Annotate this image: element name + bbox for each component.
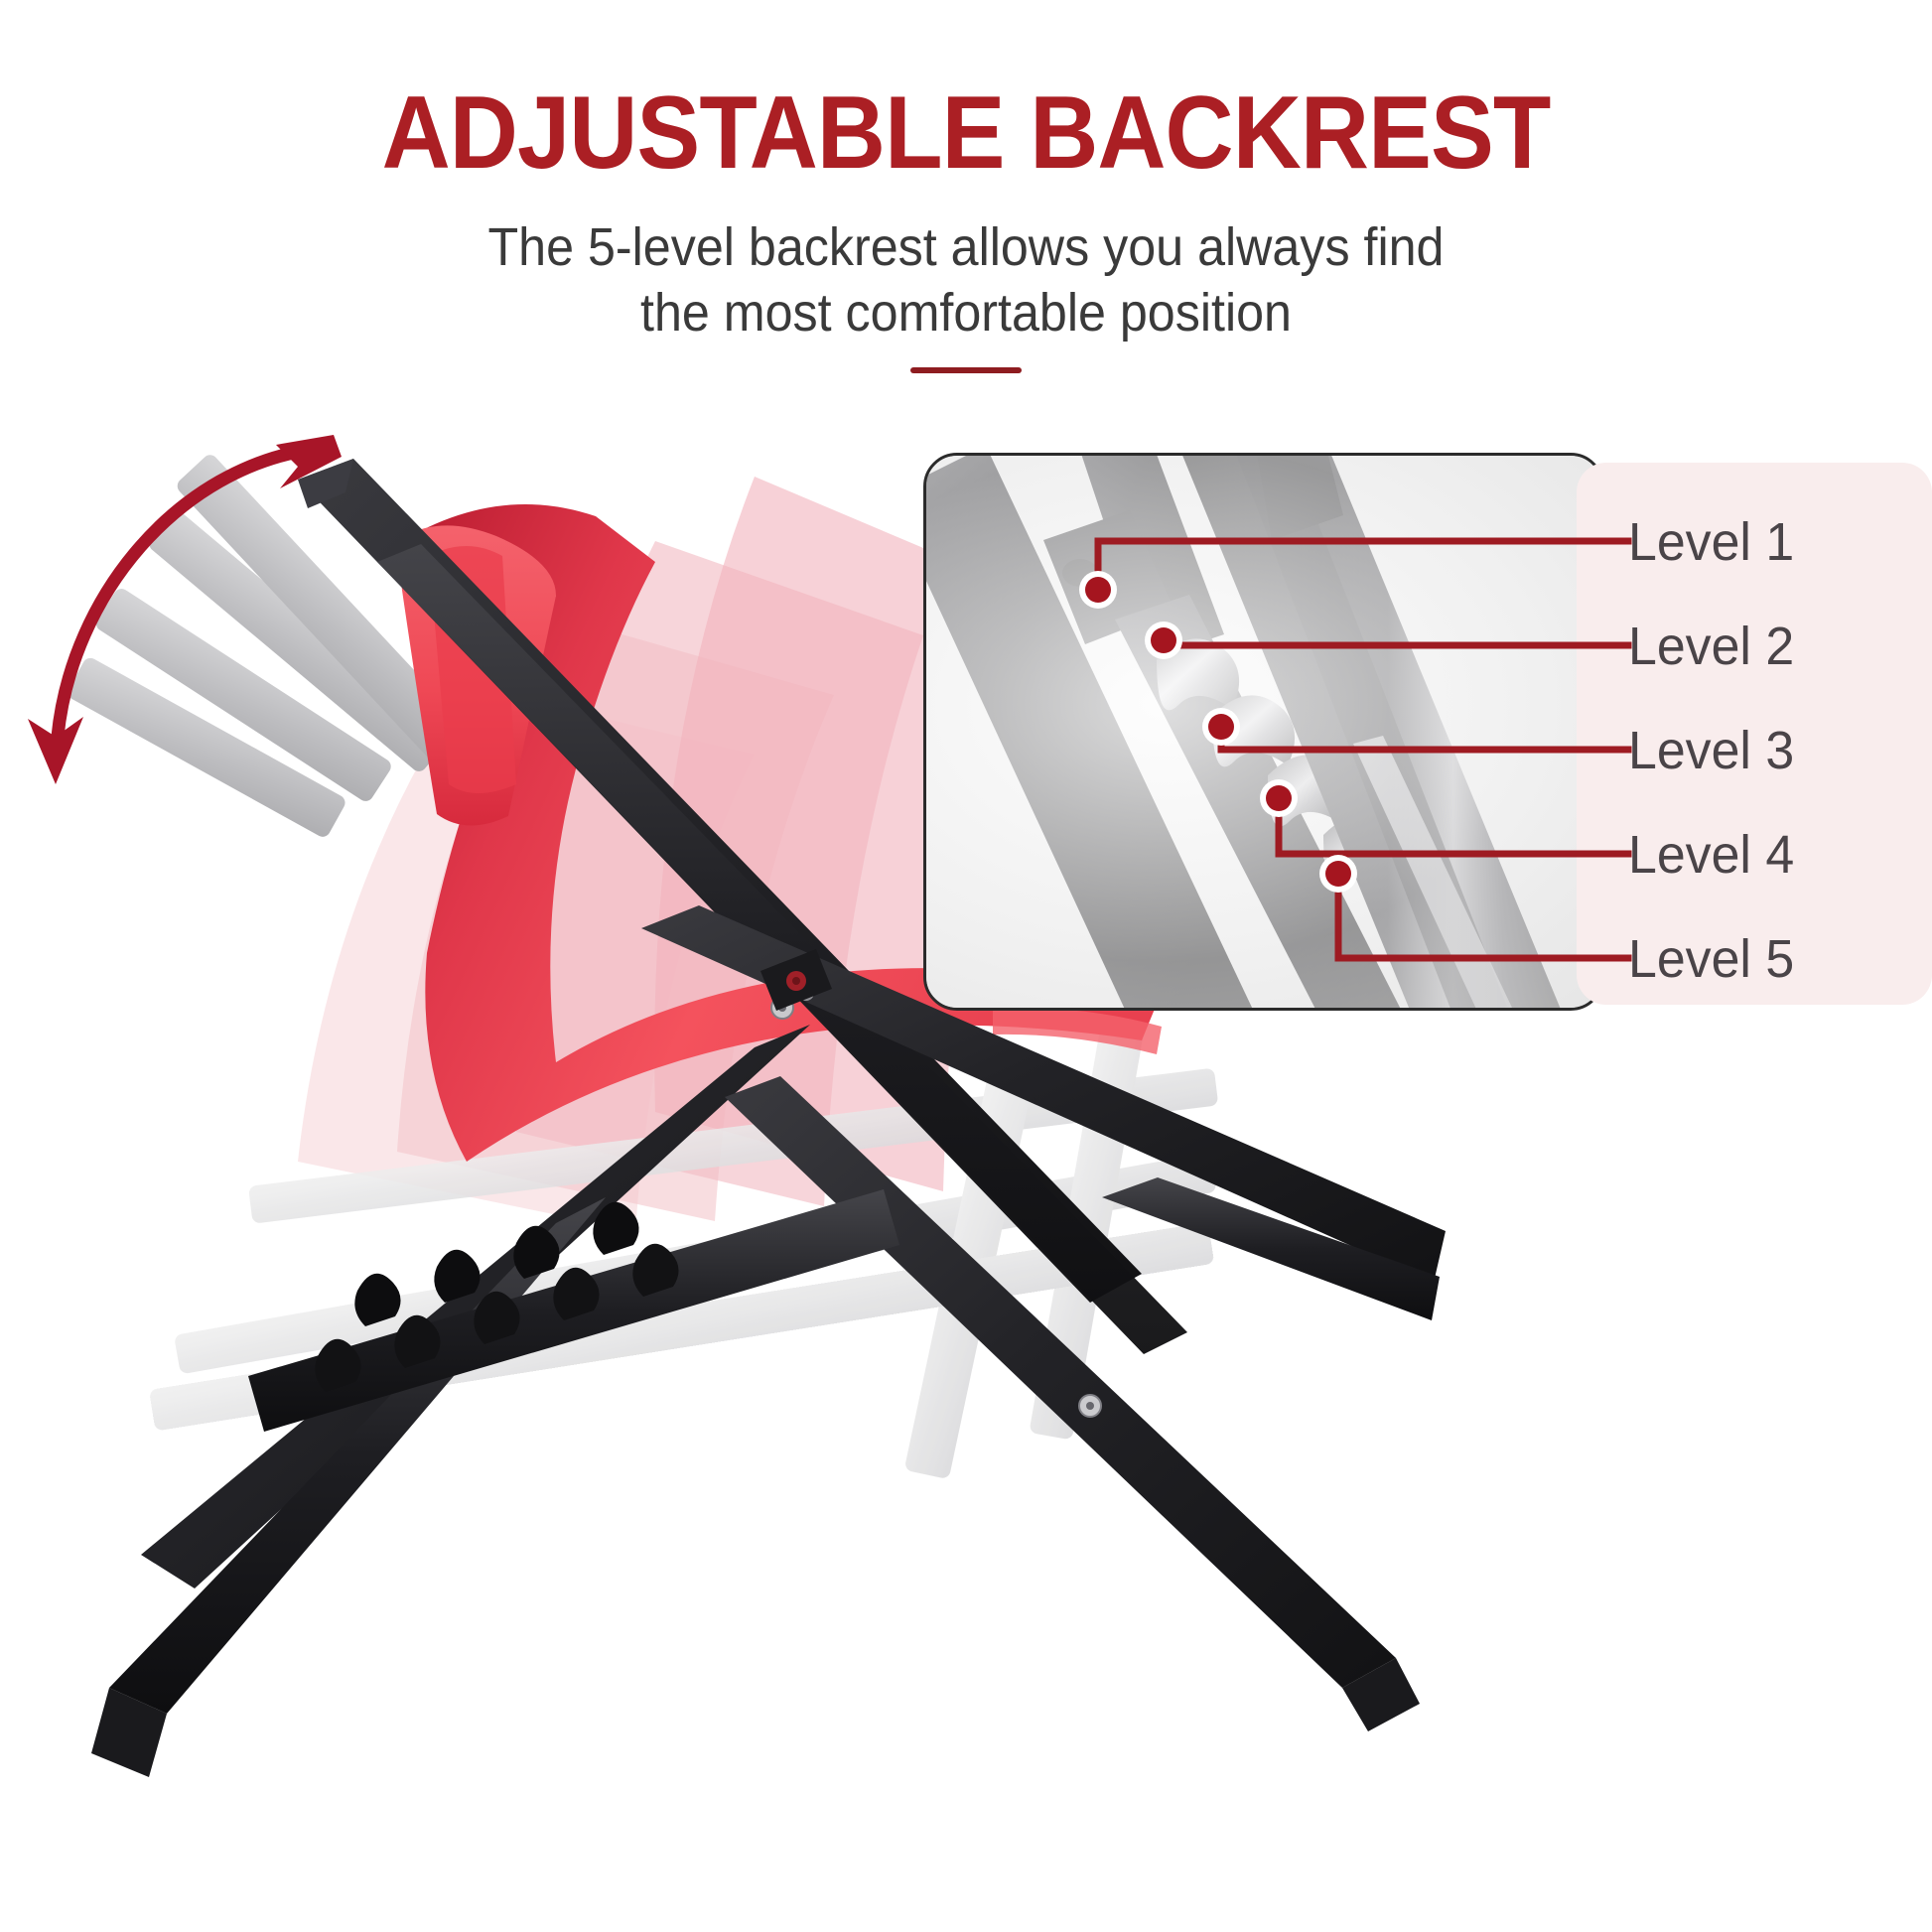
frame-rivets <box>771 985 1101 1417</box>
level-label-2: Level 2 <box>1628 620 1794 673</box>
subtitle-line-2: the most comfortable position <box>640 283 1292 343</box>
recline-arrow-icon <box>28 435 342 784</box>
infographic-canvas: ADJUSTABLE BACKREST The 5-level backrest… <box>0 0 1932 1932</box>
inset-background <box>926 456 1601 1008</box>
header-divider <box>910 367 1022 373</box>
level-label-5: Level 5 <box>1628 932 1794 986</box>
header: ADJUSTABLE BACKREST The 5-level backrest… <box>0 0 1932 373</box>
adjuster-knob <box>760 949 832 1011</box>
page-title: ADJUSTABLE BACKREST <box>77 0 1855 189</box>
subtitle: The 5-level backrest allows you always f… <box>68 189 1864 345</box>
level-legend-panel: Level 1 Level 2 Level 3 Level 4 Level 5 <box>1577 463 1932 1005</box>
subtitle-line-1: The 5-level backrest allows you always f… <box>488 217 1445 277</box>
level-label-1: Level 1 <box>1628 515 1794 569</box>
notch-rail <box>248 1189 899 1432</box>
level-label-4: Level 4 <box>1628 828 1794 882</box>
notch-detail-panel <box>923 453 1604 1011</box>
level-label-3: Level 3 <box>1628 724 1794 777</box>
